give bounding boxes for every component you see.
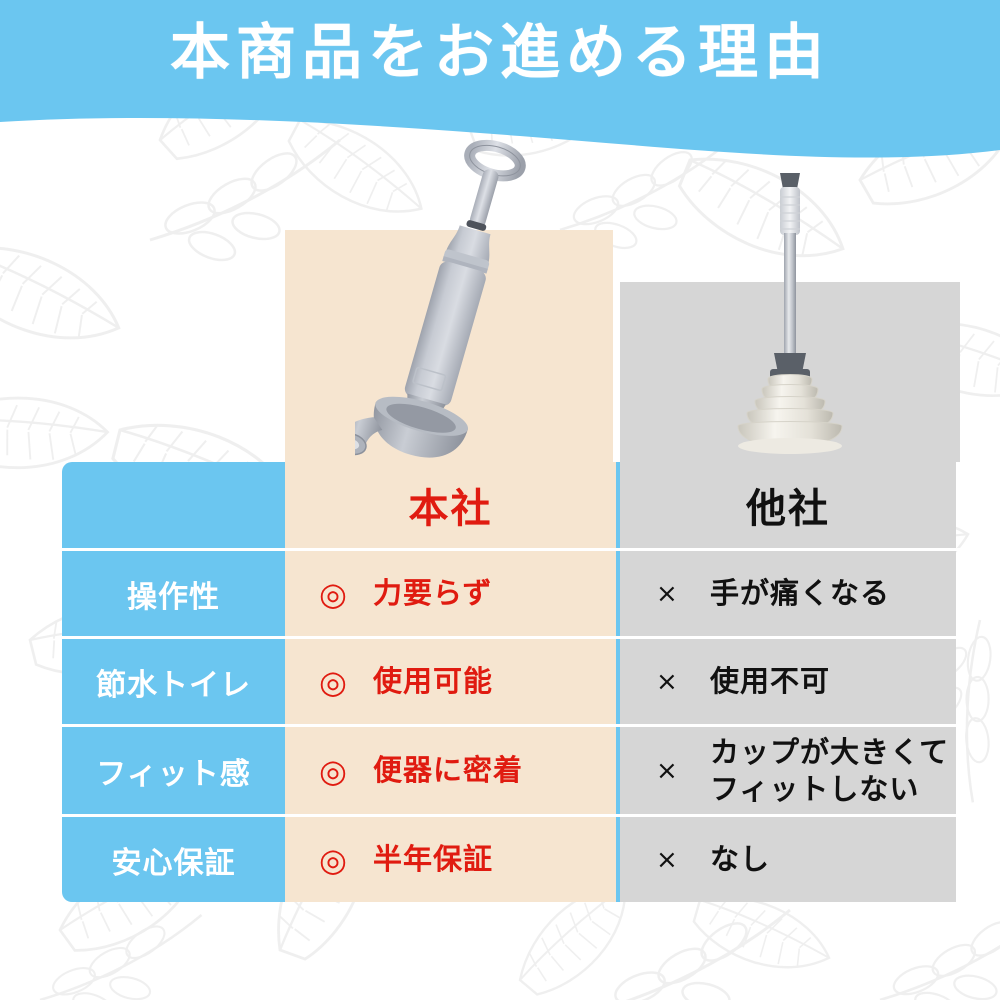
row-ours-cell: ◎ 便器に密着 xyxy=(285,727,620,814)
theirs-product-image xyxy=(700,165,880,465)
header-label-cell xyxy=(62,462,285,548)
header-theirs-cell: 他社 xyxy=(620,462,956,548)
cross-icon: × xyxy=(656,847,710,873)
row-ours-cell: ◎ 半年保証 xyxy=(285,817,620,902)
row-theirs-text: カップが大きくてフィットしない xyxy=(710,734,949,807)
table-row: 安心保証 ◎ 半年保証 × なし xyxy=(62,814,960,902)
double-circle-icon: ◎ xyxy=(319,755,373,787)
row-ours-cell: ◎ 使用可能 xyxy=(285,639,620,724)
row-label: 安心保証 xyxy=(62,817,285,902)
row-ours-text: 便器に密着 xyxy=(373,752,523,788)
cross-icon: × xyxy=(656,669,710,695)
row-theirs-text: なし xyxy=(710,841,770,877)
comparison-table: 本社 他社 操作性 ◎ 力要らず × 手が痛くなる 節水トイレ ◎ 使用可能 ×… xyxy=(62,462,960,912)
row-theirs-text: 手が痛くなる xyxy=(710,575,890,611)
double-circle-icon: ◎ xyxy=(319,844,373,876)
row-theirs-text: 使用不可 xyxy=(710,663,830,699)
ours-product-image xyxy=(355,135,555,465)
row-label: 節水トイレ xyxy=(62,639,285,724)
cross-icon: × xyxy=(656,758,710,784)
header-ours-cell: 本社 xyxy=(285,462,620,548)
row-ours-cell: ◎ 力要らず xyxy=(285,551,620,636)
table-row: 操作性 ◎ 力要らず × 手が痛くなる xyxy=(62,548,960,636)
page-title: 本商品をお進める理由 xyxy=(0,20,1000,86)
table-row: 節水トイレ ◎ 使用可能 × 使用不可 xyxy=(62,636,960,724)
row-theirs-cell: × 使用不可 xyxy=(620,639,956,724)
double-circle-icon: ◎ xyxy=(319,666,373,698)
table-header-row: 本社 他社 xyxy=(62,462,960,548)
row-ours-text: 使用可能 xyxy=(373,663,493,699)
row-theirs-cell: × なし xyxy=(620,817,956,902)
double-circle-icon: ◎ xyxy=(319,578,373,610)
row-theirs-cell: × 手が痛くなる xyxy=(620,551,956,636)
row-label: 操作性 xyxy=(62,551,285,636)
row-ours-text: 半年保証 xyxy=(373,841,493,877)
row-theirs-cell: × カップが大きくてフィットしない xyxy=(620,727,956,814)
row-label: フィット感 xyxy=(62,727,285,814)
row-ours-text: 力要らず xyxy=(373,575,492,611)
table-row: フィット感 ◎ 便器に密着 × カップが大きくてフィットしない xyxy=(62,724,960,814)
cross-icon: × xyxy=(656,581,710,607)
